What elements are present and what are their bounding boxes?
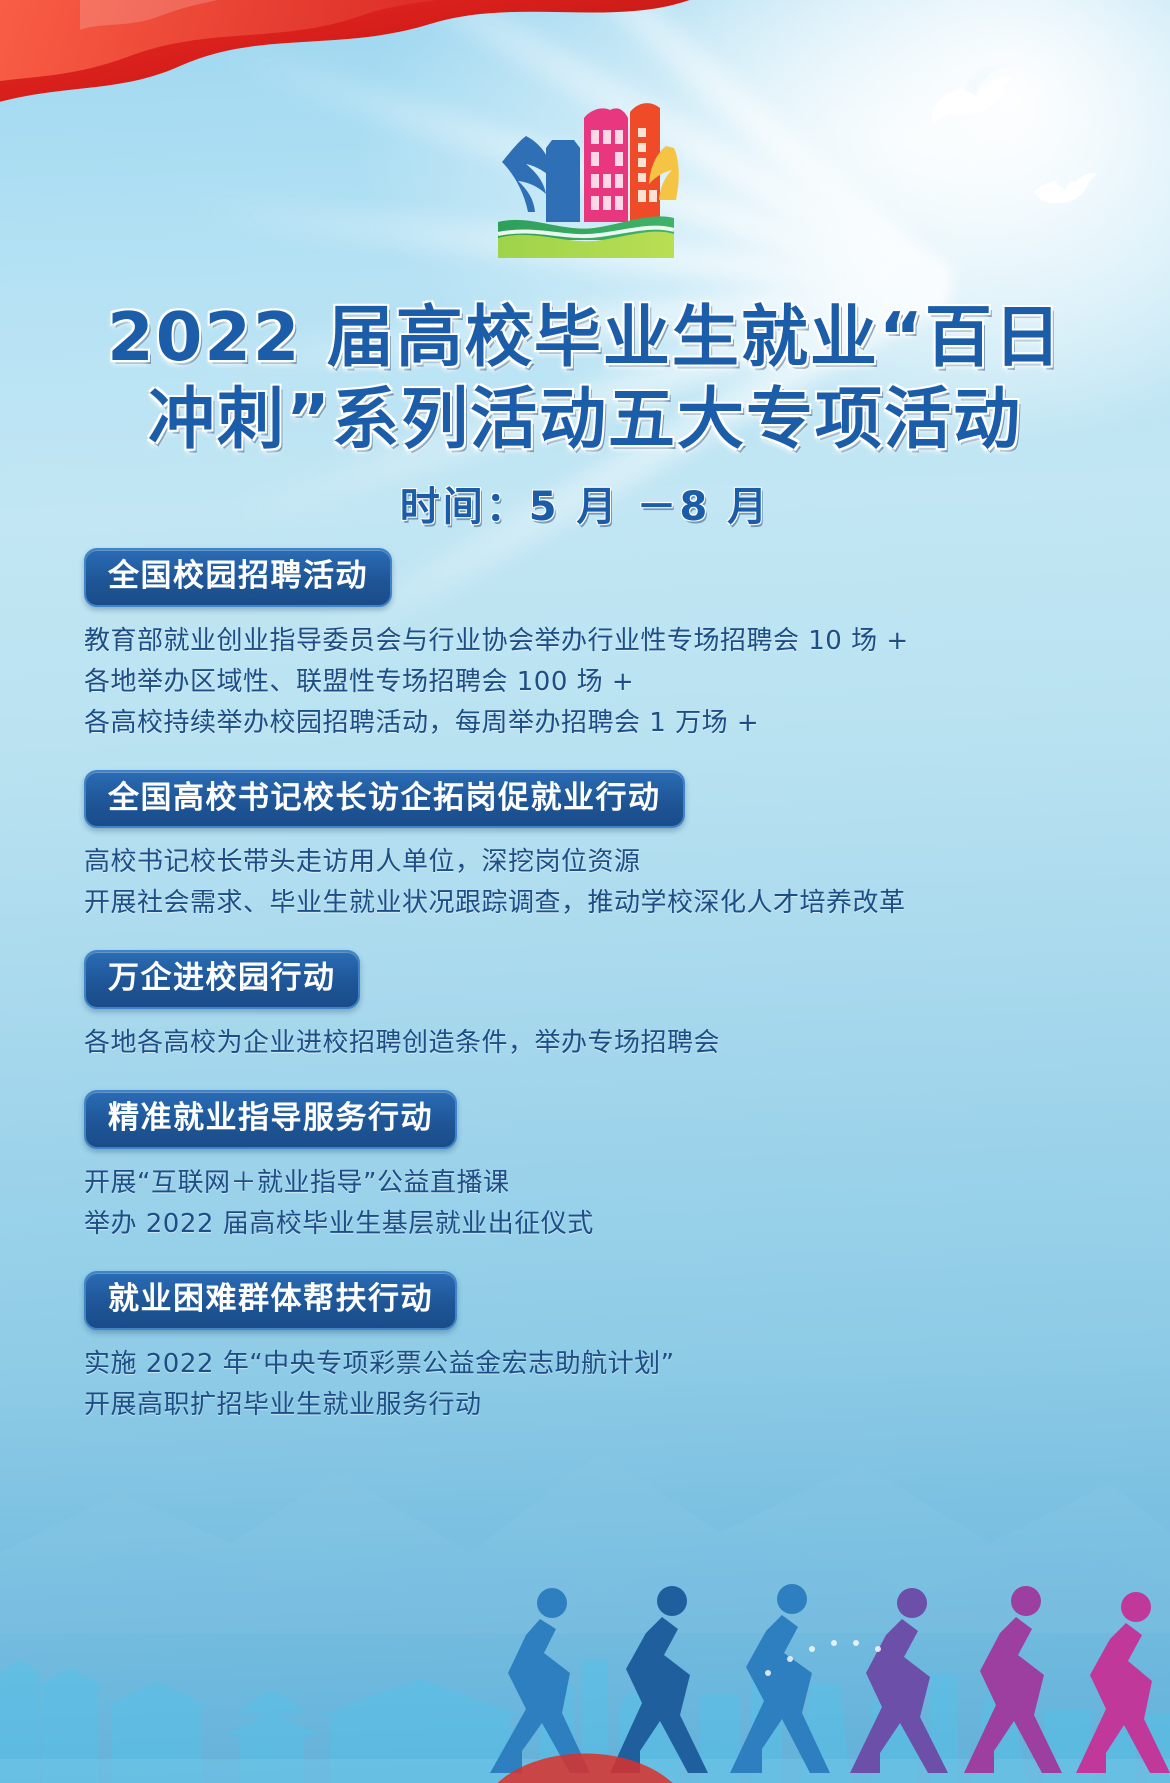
red-arc-icon: [485, 1727, 685, 1783]
title-line-2: 冲刺”系列活动五大专项活动: [0, 378, 1170, 460]
logo: [0, 88, 1170, 266]
title-line-1: 2022 届高校毕业生就业“百日: [0, 296, 1170, 378]
page-subtitle: 时间：5 月 －8 月: [0, 474, 1170, 532]
section-1: 全国校园招聘活动 教育部就业创业指导委员会与行业协会举办行业性专场招聘会 10 …: [84, 548, 1094, 744]
section-1-badge: 全国校园招聘活动: [84, 548, 392, 607]
section-4-body: 开展“互联网＋就业指导”公益直播课 举办 2022 届高校毕业生基层就业出征仪式: [84, 1163, 1094, 1245]
section-3-body: 各地各高校为企业进校招聘创造条件，举办专场招聘会: [84, 1023, 1094, 1064]
section-1-line-3: 各高校持续举办校园招聘活动，每周举办招聘会 1 万场 +: [84, 703, 1094, 744]
section-2-line-1: 高校书记校长带头走访用人单位，深挖岗位资源: [84, 842, 1094, 883]
section-4: 精准就业指导服务行动 开展“互联网＋就业指导”公益直播课 举办 2022 届高校…: [84, 1090, 1094, 1245]
section-1-body: 教育部就业创业指导委员会与行业协会举办行业性专场招聘会 10 场 + 各地举办区…: [84, 621, 1094, 744]
bottom-decoration: [0, 1483, 1170, 1783]
page-title: 2022 届高校毕业生就业“百日 冲刺”系列活动五大专项活动 时间：5 月 －8…: [0, 296, 1170, 532]
employment-campaign-logo-icon: [490, 88, 680, 266]
section-2-body: 高校书记校长带头走访用人单位，深挖岗位资源 开展社会需求、毕业生就业状况跟踪调查…: [84, 842, 1094, 924]
section-2: 全国高校书记校长访企拓岗促就业行动 高校书记校长带头走访用人单位，深挖岗位资源 …: [84, 770, 1094, 925]
section-1-line-1: 教育部就业创业指导委员会与行业协会举办行业性专场招聘会 10 场 +: [84, 621, 1094, 662]
section-1-line-2: 各地举办区域性、联盟性专场招聘会 100 场 +: [84, 662, 1094, 703]
section-4-badge: 精准就业指导服务行动: [84, 1090, 457, 1149]
section-3-badge: 万企进校园行动: [84, 950, 360, 1009]
section-4-line-2: 举办 2022 届高校毕业生基层就业出征仪式: [84, 1204, 1094, 1245]
section-2-badge: 全国高校书记校长访企拓岗促就业行动: [84, 770, 685, 829]
section-2-line-2: 开展社会需求、毕业生就业状况跟踪调查，推动学校深化人才培养改革: [84, 883, 1094, 924]
section-3: 万企进校园行动 各地各高校为企业进校招聘创造条件，举办专场招聘会: [84, 950, 1094, 1064]
poster-root: 2022 届高校毕业生就业“百日 冲刺”系列活动五大专项活动 时间：5 月 －8…: [0, 0, 1170, 1783]
section-4-line-1: 开展“互联网＋就业指导”公益直播课: [84, 1163, 1094, 1204]
section-3-line-1: 各地各高校为企业进校招聘创造条件，举办专场招聘会: [84, 1023, 1094, 1064]
